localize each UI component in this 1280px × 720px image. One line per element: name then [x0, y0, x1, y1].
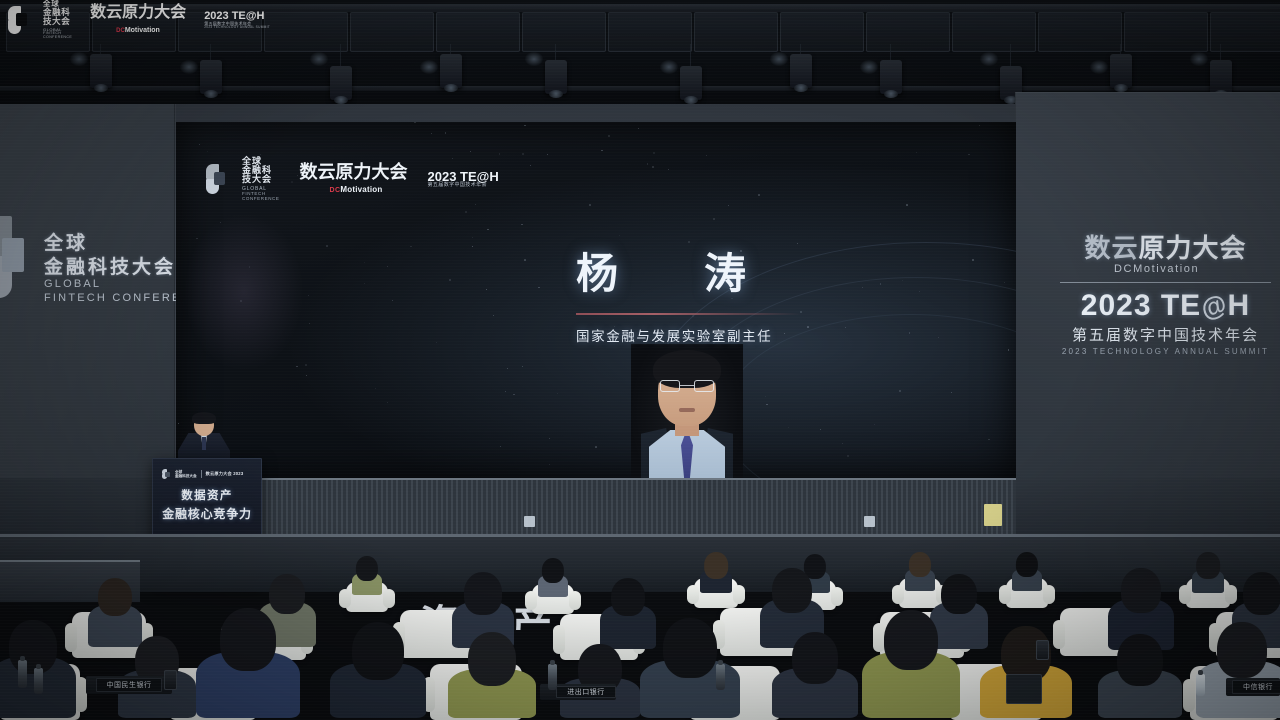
truss-cell: [436, 12, 520, 52]
laptop: [1006, 674, 1042, 704]
person-head: [468, 632, 516, 686]
overlay-dcm-cn: 数云: [90, 4, 122, 21]
glasses-icon: [660, 380, 714, 392]
right-wall-year-tail: H: [1228, 289, 1251, 322]
right-wall-branding: 数云原力大会 DCMotivation 2023 TE@H 第五届数字中国技术年…: [1058, 228, 1273, 340]
star: [906, 204, 908, 206]
person-head: [1016, 552, 1038, 577]
right-wall-divider: [1060, 282, 1271, 283]
left-wall-en-line1: GLOBAL: [44, 278, 101, 290]
person-head: [704, 552, 728, 579]
stage-spotlight: [200, 60, 222, 94]
screen-gf-cn2: 金融科技大会: [242, 166, 280, 185]
overlay-gf-cn2: 金融科技大会: [43, 8, 72, 27]
person-head: [1117, 634, 1163, 686]
lamp-glow: [1090, 60, 1108, 74]
person-head: [792, 632, 838, 684]
star: [706, 155, 707, 156]
smartphone: [164, 670, 177, 690]
screen-dcm-cn: 数云: [300, 162, 336, 182]
stage-skirt-right: [1016, 478, 1280, 534]
smartphone: [1036, 640, 1049, 660]
stage-spotlight: [440, 54, 462, 88]
glasses-lens-right: [694, 380, 714, 392]
star: [522, 366, 523, 367]
podium-title-line1: 数据资产: [153, 487, 261, 503]
person-head: [356, 556, 378, 581]
person-head: [909, 552, 931, 577]
water-bottle: [716, 664, 725, 690]
truss-cell: [694, 12, 778, 52]
person-head: [772, 568, 812, 613]
star: [465, 211, 467, 213]
podium-title-line2: 金融核心竞争力: [153, 505, 261, 522]
star: [500, 446, 501, 447]
person-head: [1196, 552, 1220, 579]
audience-person: [1012, 552, 1042, 592]
star: [524, 259, 526, 261]
star: [207, 151, 208, 152]
screen-dcm-red: DC: [330, 187, 341, 194]
star: [653, 152, 655, 154]
star: [758, 194, 760, 196]
broadcast-logo-bug: 全球 金融科技大会 GLOBAL FINTECH CONFERENCE 数云原力…: [0, 0, 250, 40]
person-head: [884, 610, 938, 670]
star: [589, 204, 591, 206]
audience-seating: 中国民生银行进出口银行中信银行: [0, 548, 1280, 720]
audience-person: [1196, 622, 1280, 720]
overlay-fintech-mark-icon: [8, 6, 34, 34]
stage-front-edge: [0, 534, 1280, 537]
audience-person: [560, 644, 640, 720]
star: [979, 125, 980, 126]
audience-person: [700, 552, 732, 594]
star: [199, 144, 200, 145]
left-wall-branding: 全球 金融科技大会 GLOBAL FINTECH CONFERENCE: [4, 214, 174, 326]
overlay-gf-en2: FINTECH CONFERENCE: [43, 32, 72, 40]
lamp-glow: [1190, 52, 1208, 66]
speaker-name: 杨 涛: [576, 240, 906, 301]
star: [326, 245, 328, 247]
audience-person: [862, 610, 960, 720]
star: [493, 315, 494, 316]
global-fintech-mark-icon: [206, 164, 232, 194]
screen-dcm-lockup: 数云原力大会 DCMotivation: [300, 163, 408, 196]
star: [309, 323, 311, 325]
star: [521, 224, 522, 225]
lamp-glow: [860, 60, 878, 74]
truss-cell: [780, 12, 864, 52]
lamp-glow: [525, 52, 543, 66]
star: [968, 154, 969, 155]
speaker-name-block: 杨 涛 国家金融与发展实验室副主任: [576, 240, 906, 345]
person-head: [464, 572, 502, 615]
star: [522, 153, 524, 155]
podium-logo-lockup: 全球 金融科技大会 数云原力大会 2023: [162, 468, 252, 480]
overlay-gf-text: 全球 金融科技大会 GLOBAL FINTECH CONFERENCE: [43, 0, 72, 40]
star: [260, 154, 261, 155]
star: [364, 262, 365, 263]
star: [308, 295, 309, 296]
stage-spotlight: [545, 60, 567, 94]
star: [638, 128, 639, 129]
star: [375, 388, 376, 389]
star: [387, 402, 388, 403]
truss-cell: [264, 12, 348, 52]
glasses-bridge: [680, 385, 694, 386]
stage-skirt-center: [176, 478, 1016, 534]
podium-fintech-mark-icon: [162, 469, 171, 479]
star: [475, 204, 476, 205]
right-wall-year: 2023 TE: [1081, 289, 1201, 322]
star: [538, 287, 539, 288]
lamp-glow: [310, 52, 328, 66]
table-placard: 中国民生银行: [96, 678, 162, 692]
person-head: [352, 622, 404, 680]
stage-skirt-left: [0, 478, 176, 534]
person-head: [1217, 622, 1267, 678]
audience-person: [448, 632, 536, 720]
skirt-yellow-panel: [984, 504, 1002, 526]
person-head: [663, 618, 717, 678]
audience-person: [538, 558, 568, 598]
overlay-dcm-red: DC: [116, 28, 125, 34]
star: [547, 154, 548, 155]
star: [916, 152, 917, 153]
screen-gf-en2: FINTECH CONFERENCE: [242, 192, 280, 201]
star: [414, 122, 415, 123]
podium-logo-cn2: 金融科技大会: [175, 474, 197, 478]
speaker-video-portrait: [631, 344, 743, 480]
star: [652, 166, 653, 167]
stage-spotlight: [330, 66, 352, 100]
water-bottle: [18, 660, 27, 688]
star: [595, 446, 597, 448]
person-head: [611, 578, 645, 616]
audience-person: [772, 632, 858, 720]
overlay-dcm-motivation: Motivation: [125, 27, 160, 34]
podium-logo-divider: [201, 470, 202, 478]
audience-person: [330, 622, 426, 720]
star: [431, 133, 432, 134]
star: [436, 342, 437, 343]
right-wall-summit-en: 2023 TECHNOLOGY ANNUAL SUMMIT: [1058, 347, 1273, 356]
star: [505, 391, 507, 393]
star: [387, 266, 388, 267]
star: [392, 300, 393, 301]
star: [364, 283, 365, 284]
right-wall-brand-en: DCMotivation: [1114, 263, 1273, 275]
person-head: [542, 558, 564, 583]
star: [487, 229, 489, 231]
person-head: [9, 620, 57, 674]
right-wall-brand-cn2: 原力大会: [1139, 233, 1247, 263]
main-led-screen: 全球 金融科技大会 GLOBAL FINTECH CONFERENCE 数云原力…: [176, 122, 1016, 480]
star: [472, 237, 473, 238]
left-wall-cn-line2: 金融科技大会: [44, 252, 176, 279]
right-wall-brand-cn: 数云: [1084, 233, 1138, 263]
portrait-mouth: [679, 408, 695, 412]
wall-seam-top-right: [1015, 92, 1280, 93]
speaker-title: 国家金融与发展实验室副主任: [576, 325, 906, 345]
left-wall-cn-line1: 全球: [44, 228, 88, 255]
lamp-glow: [770, 52, 788, 66]
screen-dcm-cn2: 原力大会: [336, 162, 408, 182]
lamp-glow: [980, 52, 998, 66]
star: [728, 205, 729, 206]
person-head: [1121, 568, 1161, 613]
truss-beam-lower: [0, 86, 1280, 91]
audience-person: [1192, 552, 1224, 594]
audience-person: [640, 618, 740, 720]
podium-speaker-hair: [192, 412, 216, 424]
overlay-dcm-lockup: 数云原力大会 DCMotivation: [90, 5, 186, 36]
conference-stage-scene: 全球 金融科技大会 GLOBAL FINTECH CONFERENCE 数云原力…: [0, 0, 1280, 720]
star: [608, 135, 610, 137]
stage-spotlight: [680, 66, 702, 100]
star: [557, 393, 558, 394]
table-placard: 进出口银行: [556, 686, 616, 698]
speaker-name-rule: [576, 313, 800, 315]
truss-cell: [1038, 12, 1122, 52]
person-head: [941, 574, 977, 614]
podium-title-block: 数据资产 金融核心竞争力: [153, 487, 261, 522]
table-placard: 中信银行: [1232, 680, 1280, 694]
star: [499, 153, 500, 154]
water-bottle: [1196, 674, 1205, 696]
right-wall-brand-row: 数云原力大会: [1058, 228, 1273, 265]
audience-person: [980, 626, 1072, 720]
right-wall-summit-cn: 第五届数字中国技术年会: [1058, 324, 1273, 345]
truss-cell: [608, 12, 692, 52]
truss-cell: [522, 12, 606, 52]
podium-speaker-figure: [178, 414, 230, 464]
star: [410, 246, 411, 247]
overlay-tech-lockup: 2023 TE@H 第五届数字中国技术年会 2023 TECHNOLOGY AN…: [204, 10, 270, 30]
star: [713, 218, 715, 220]
star: [486, 289, 487, 290]
skirt-marker-3: [864, 516, 875, 527]
screen-dcm-motivation: Motivation: [340, 185, 382, 194]
audience-person: [352, 556, 382, 596]
lamp-glow: [660, 60, 678, 74]
podium-gf-text: 全球 金融科技大会: [175, 470, 197, 478]
star: [513, 394, 514, 395]
global-fintech-logo-icon: [0, 216, 40, 300]
star: [549, 438, 550, 439]
star: [305, 364, 307, 366]
person-head: [1243, 572, 1280, 615]
stage-spotlight: [1210, 60, 1232, 94]
glasses-lens-left: [660, 380, 680, 392]
audience-person: [1098, 634, 1182, 720]
stage-spotlight: [790, 54, 812, 88]
screen-tech-lockup: 2023 TE@H 第五届数字中国技术年会: [428, 170, 499, 189]
star: [549, 464, 550, 465]
truss-cell: [866, 12, 950, 52]
star: [601, 150, 602, 151]
overlay-tech-en: 2023 TECHNOLOGY ANNUAL SUMMIT: [204, 26, 270, 30]
truss-cell: [1124, 12, 1208, 52]
podium-logo-dcm: 数云原力大会 2023: [206, 471, 244, 477]
star: [668, 169, 669, 170]
screen-nebula: [184, 212, 304, 372]
podium-speaker-tie: [202, 437, 206, 450]
screen-logo-lockup: 全球 金融科技大会 GLOBAL FINTECH CONFERENCE 数云原力…: [206, 160, 496, 198]
lamp-glow: [180, 60, 198, 74]
star: [306, 375, 307, 376]
screen-tech-sub: 第五届数字中国技术年会: [428, 183, 499, 188]
person-head: [98, 578, 132, 616]
screen-gf-text: 全球 金融科技大会 GLOBAL FINTECH CONFERENCE: [242, 157, 280, 202]
star: [647, 163, 648, 164]
audience-person: [196, 608, 300, 720]
star: [524, 125, 525, 126]
star: [445, 132, 447, 134]
truss-cell: [952, 12, 1036, 52]
stage-spotlight: [90, 54, 112, 88]
truss-cell: [350, 12, 434, 52]
stage-spotlight: [880, 60, 902, 94]
star: [472, 246, 473, 247]
right-wall-year-row: 2023 TE@H: [1058, 289, 1273, 323]
star: [530, 165, 531, 166]
person-head: [220, 608, 276, 671]
stage-spotlight: [1110, 54, 1132, 88]
water-bottle: [34, 668, 43, 694]
star: [507, 368, 508, 369]
skirt-marker-2: [524, 516, 535, 527]
star: [449, 279, 451, 281]
overlay-dcm-cn2: 原力大会: [122, 4, 186, 21]
lamp-glow: [70, 52, 88, 66]
star: [470, 151, 471, 152]
lamp-glow: [420, 60, 438, 74]
star: [619, 235, 620, 236]
